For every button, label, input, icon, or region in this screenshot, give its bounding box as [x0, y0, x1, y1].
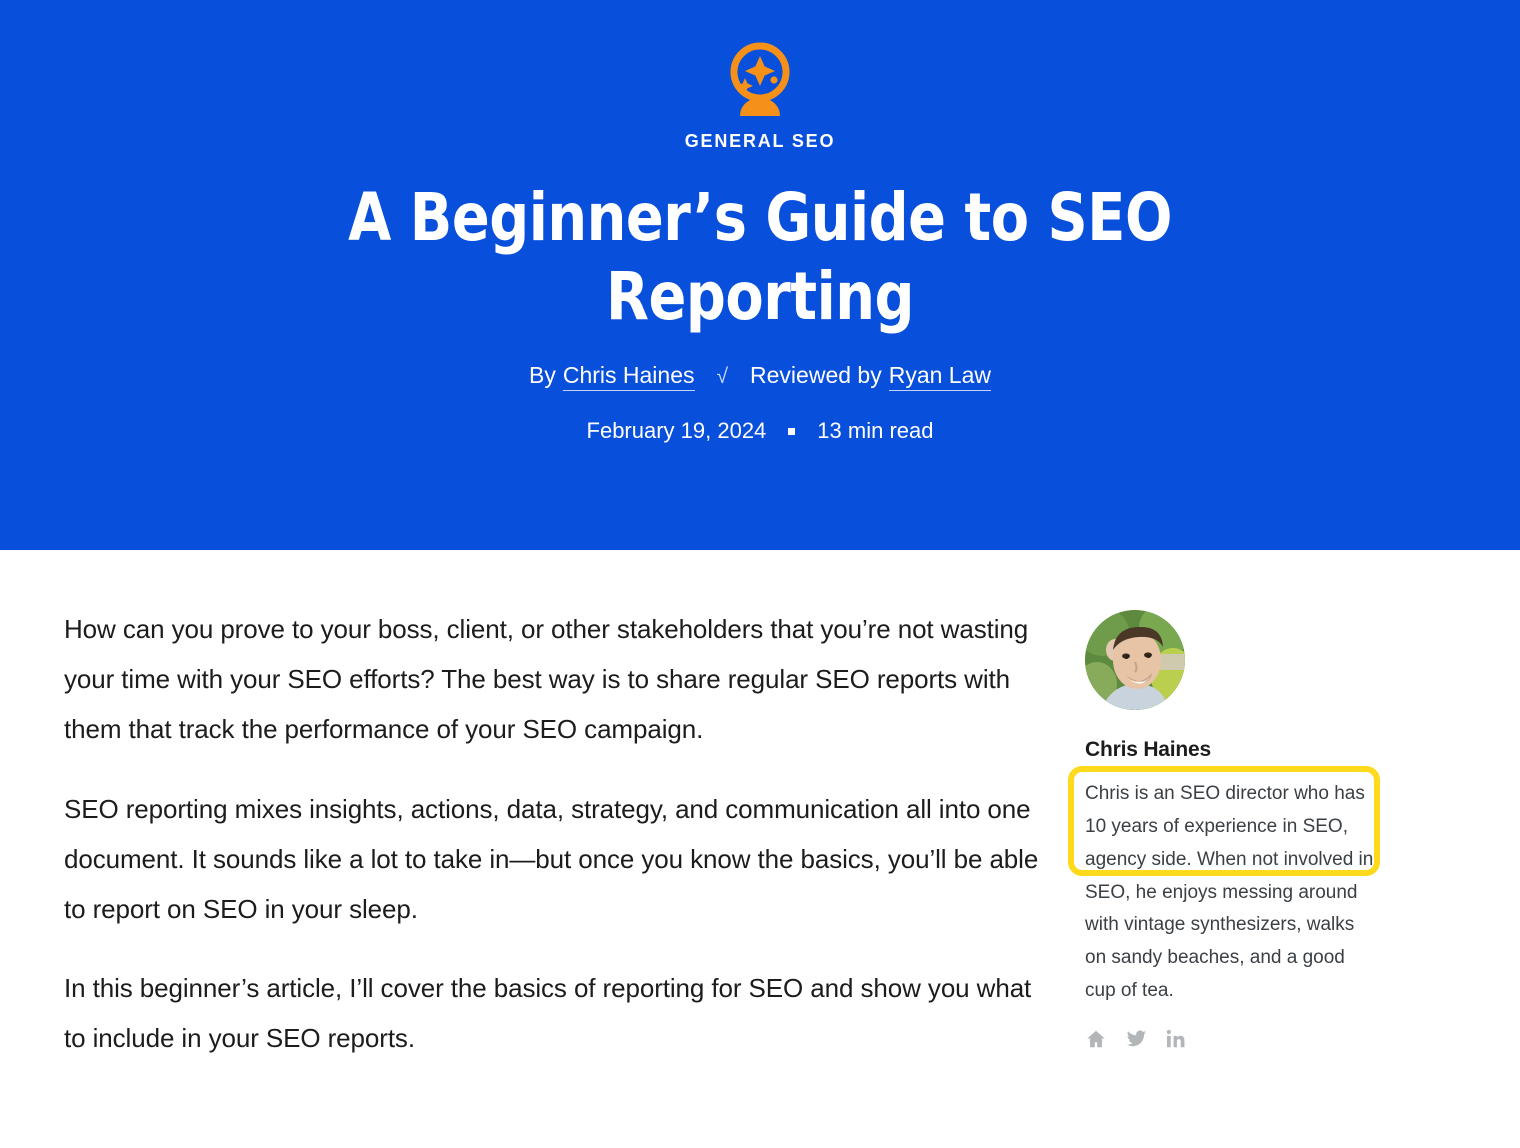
reviewer-link[interactable]: Ryan Law	[889, 364, 991, 391]
by-label: By	[529, 364, 556, 387]
crystal-ball-icon	[712, 0, 808, 96]
article-page: GENERAL SEO A Beginner’s Guide to SEO Re…	[0, 0, 1520, 1148]
article-hero: GENERAL SEO A Beginner’s Guide to SEO Re…	[0, 0, 1520, 550]
reviewer-byline: Reviewed by Ryan Law	[750, 364, 991, 391]
category-kicker[interactable]: GENERAL SEO	[0, 132, 1520, 150]
author-bio-wrapper: Chris is an SEO director who has 10 year…	[1085, 778, 1377, 1008]
paragraph: How can you prove to your boss, client, …	[64, 605, 1039, 755]
author-social-links	[1085, 1028, 1385, 1050]
check-icon: √	[717, 366, 729, 387]
author-bio-text: Chris is an SEO director who has 10 year…	[1085, 783, 1373, 1001]
author-name: Chris Haines	[1085, 739, 1385, 760]
article-meta: February 19, 2024 13 min read	[0, 420, 1520, 442]
page-title: A Beginner’s Guide to SEO Reporting	[328, 178, 1193, 336]
reviewed-by-label: Reviewed by	[750, 364, 882, 387]
author-link[interactable]: Chris Haines	[563, 364, 695, 391]
article-text: How can you prove to your boss, client, …	[64, 605, 1039, 1064]
paragraph: In this beginner’s article, I’ll cover t…	[64, 964, 1039, 1064]
article-body-region: How can you prove to your boss, client, …	[0, 550, 1520, 1148]
twitter-icon[interactable]	[1125, 1028, 1147, 1050]
publish-date: February 19, 2024	[587, 420, 767, 442]
read-time: 13 min read	[817, 420, 933, 442]
linkedin-icon[interactable]	[1165, 1028, 1187, 1050]
author-sidebar: Chris Haines Chris is an SEO director wh…	[1085, 610, 1385, 1050]
home-icon[interactable]	[1085, 1028, 1107, 1050]
avatar[interactable]	[1085, 610, 1185, 710]
paragraph: SEO reporting mixes insights, actions, d…	[64, 785, 1039, 935]
byline: By Chris Haines √ Reviewed by Ryan Law	[0, 364, 1520, 391]
author-byline: By Chris Haines	[529, 364, 695, 391]
square-bullet-icon	[788, 428, 795, 435]
